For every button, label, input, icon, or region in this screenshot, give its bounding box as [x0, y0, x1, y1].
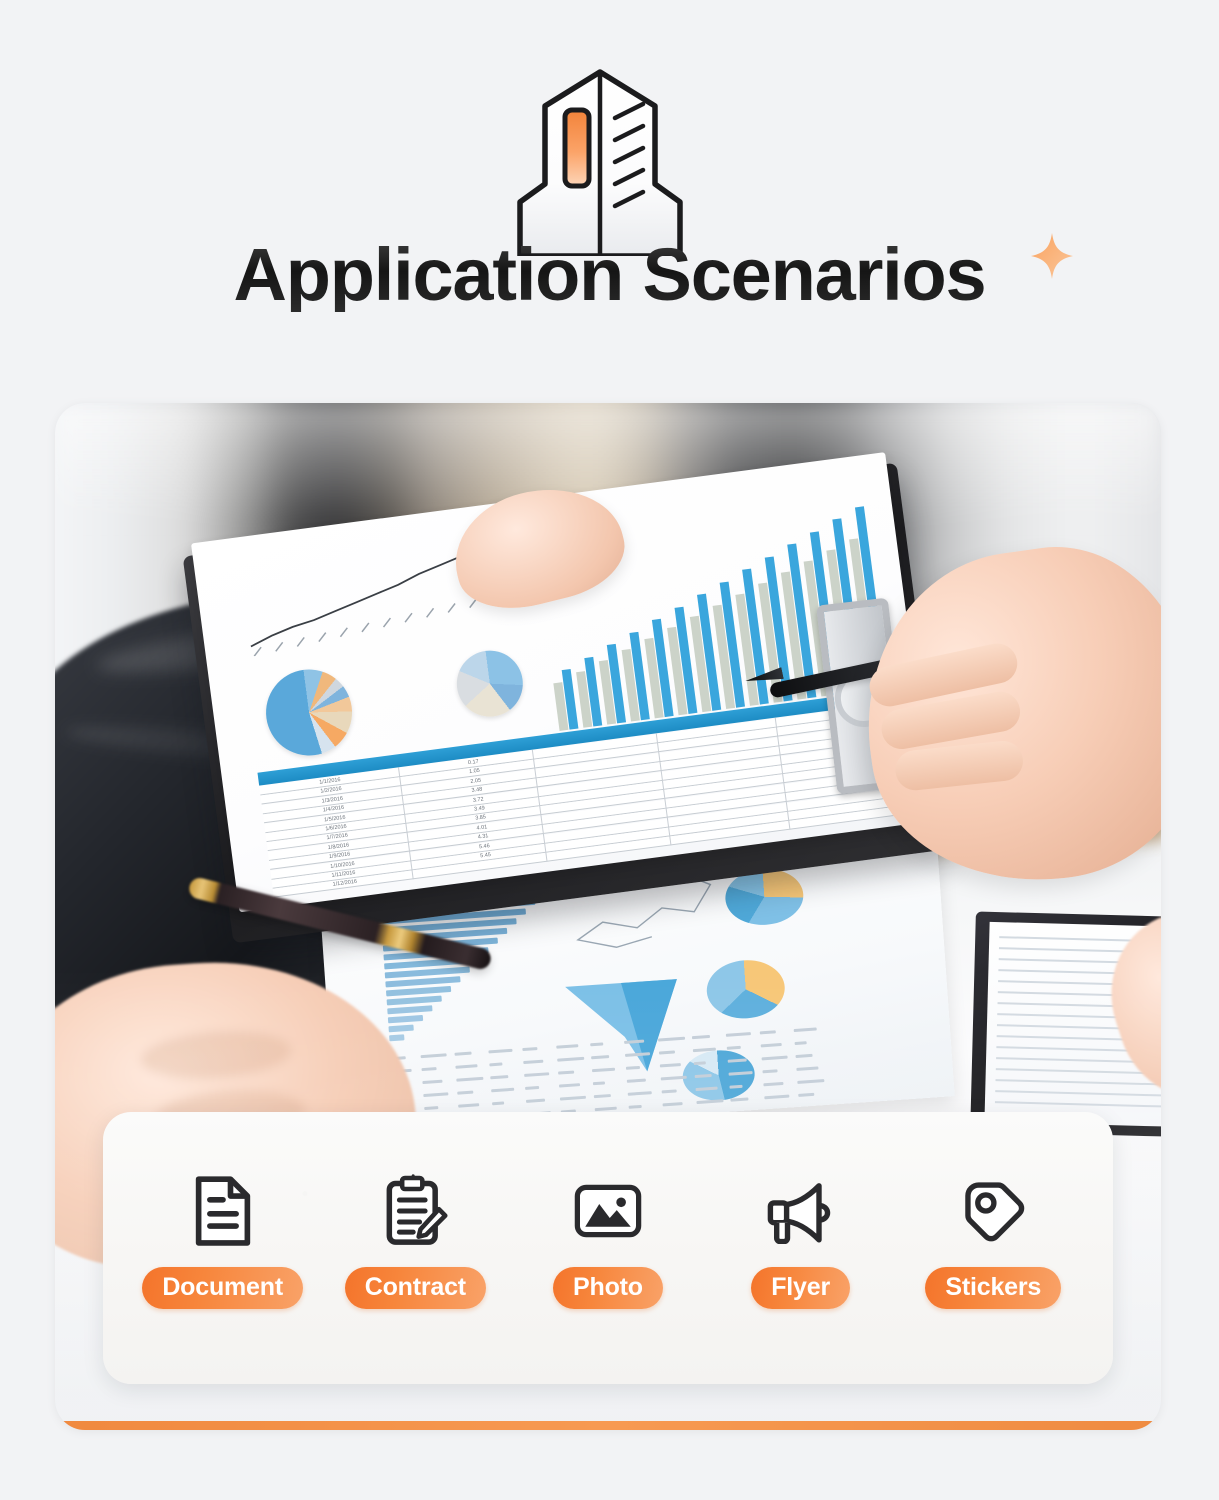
- text-line: [692, 1035, 710, 1039]
- photo-image-icon: [572, 1170, 644, 1252]
- scenario-badge-card: Document Contract Photo Flyer Stickers: [103, 1112, 1113, 1384]
- scenario-badge-label: Document: [142, 1267, 303, 1309]
- horizontal-bar: [389, 1034, 404, 1041]
- text-line: [423, 1092, 448, 1097]
- photo-accent-bar: [55, 1421, 1161, 1430]
- text-line: [491, 1088, 514, 1093]
- text-line: [421, 1053, 447, 1058]
- text-line: [662, 1089, 677, 1093]
- horizontal-bar: [387, 996, 442, 1006]
- scenario-badge-flyer[interactable]: Flyer: [710, 1170, 892, 1309]
- knuckle: [140, 1027, 293, 1083]
- scenario-badge-label: Flyer: [751, 1267, 850, 1309]
- text-line: [760, 1030, 776, 1034]
- text-line: [764, 1095, 789, 1100]
- text-line: [422, 1080, 442, 1084]
- text-line: [797, 1079, 824, 1084]
- text-line: [696, 1099, 723, 1104]
- document-pie-2: [705, 958, 787, 1021]
- scenario-badge-label: Photo: [553, 1267, 663, 1309]
- text-line: [727, 1046, 741, 1050]
- text-line: [762, 1056, 788, 1061]
- text-line: [526, 1099, 545, 1103]
- scenario-badge-label: Stickers: [925, 1267, 1061, 1309]
- horizontal-bar: [386, 986, 451, 997]
- scenario-badge-document[interactable]: Document: [132, 1170, 314, 1309]
- text-line: [663, 1102, 683, 1106]
- ruled-line: [995, 1090, 1161, 1097]
- scenario-badge-label: Contract: [345, 1267, 486, 1309]
- text-line: [730, 1097, 748, 1101]
- scenario-badge-contract[interactable]: Contract: [324, 1170, 506, 1309]
- text-line: [628, 1091, 652, 1096]
- text-line: [594, 1094, 611, 1098]
- text-line: [421, 1067, 436, 1071]
- table-cell: 3.72: [473, 796, 485, 804]
- text-line: [595, 1107, 617, 1112]
- report-pie-chart-1: [261, 664, 357, 760]
- table-cell: 4.01: [476, 824, 488, 832]
- text-line: [524, 1072, 549, 1077]
- text-line: [492, 1101, 504, 1105]
- table-cell: 1.05: [469, 768, 481, 776]
- table-cell: 5.46: [479, 843, 491, 851]
- scenario-badge-stickers[interactable]: Stickers: [902, 1170, 1084, 1309]
- text-line: [525, 1086, 539, 1090]
- text-line: [796, 1066, 818, 1071]
- horizontal-bar: [388, 1015, 423, 1023]
- text-line: [726, 1032, 751, 1037]
- table-cell: 5.45: [480, 852, 492, 860]
- table-cell: 0.17: [468, 759, 480, 767]
- header: Application Scenarios: [0, 0, 1219, 392]
- text-line: [458, 1103, 479, 1107]
- contract-clipboard-pen-icon: [379, 1170, 451, 1252]
- table-cell: 2.05: [470, 777, 482, 785]
- table-cell: 3.49: [474, 805, 486, 813]
- text-line: [490, 1075, 508, 1079]
- price-tag-icon: [957, 1170, 1029, 1252]
- scenario-badge-list: Document Contract Photo Flyer Stickers: [103, 1112, 1113, 1384]
- table-cell: 4.31: [477, 833, 489, 841]
- text-line: [761, 1043, 782, 1047]
- text-line: [523, 1060, 543, 1064]
- text-line: [762, 1069, 777, 1073]
- text-line: [560, 1096, 586, 1101]
- text-line: [795, 1054, 812, 1058]
- table-cell: 3.85: [475, 815, 487, 823]
- text-line: [455, 1064, 477, 1069]
- megaphone-icon: [765, 1170, 837, 1252]
- ruled-line: [995, 1079, 1161, 1086]
- report-pie-chart-2: [453, 647, 527, 721]
- horizontal-bar: [388, 1025, 413, 1033]
- text-line: [794, 1027, 817, 1032]
- text-line: [424, 1106, 438, 1110]
- scenario-badge-photo[interactable]: Photo: [517, 1170, 699, 1309]
- text-line: [593, 1081, 605, 1085]
- ruled-line: [995, 1101, 1161, 1109]
- text-line: [629, 1105, 642, 1109]
- text-line: [454, 1052, 471, 1056]
- document-pie-3: [681, 1048, 756, 1103]
- document-icon: [187, 1170, 259, 1252]
- ruled-line: [996, 1068, 1161, 1075]
- building-skyscraper-icon: [497, 66, 703, 256]
- text-line: [795, 1041, 807, 1045]
- page-root: Application Scenarios: [0, 0, 1219, 1500]
- table-cell: 3.48: [471, 787, 483, 795]
- text-line: [763, 1082, 783, 1086]
- text-line: [627, 1079, 646, 1083]
- horizontal-bar: [387, 1005, 432, 1014]
- text-line: [456, 1077, 483, 1082]
- text-line: [489, 1062, 502, 1066]
- text-line: [488, 1049, 512, 1054]
- page-title-text: Application Scenarios: [234, 238, 986, 312]
- table-cell: [481, 863, 482, 870]
- text-line: [798, 1093, 814, 1097]
- table-cell: 1/12/2016: [332, 879, 357, 889]
- text-line: [559, 1083, 580, 1087]
- text-line: [457, 1091, 473, 1095]
- sparkle-icon: [1030, 232, 1074, 280]
- text-line: [522, 1047, 537, 1051]
